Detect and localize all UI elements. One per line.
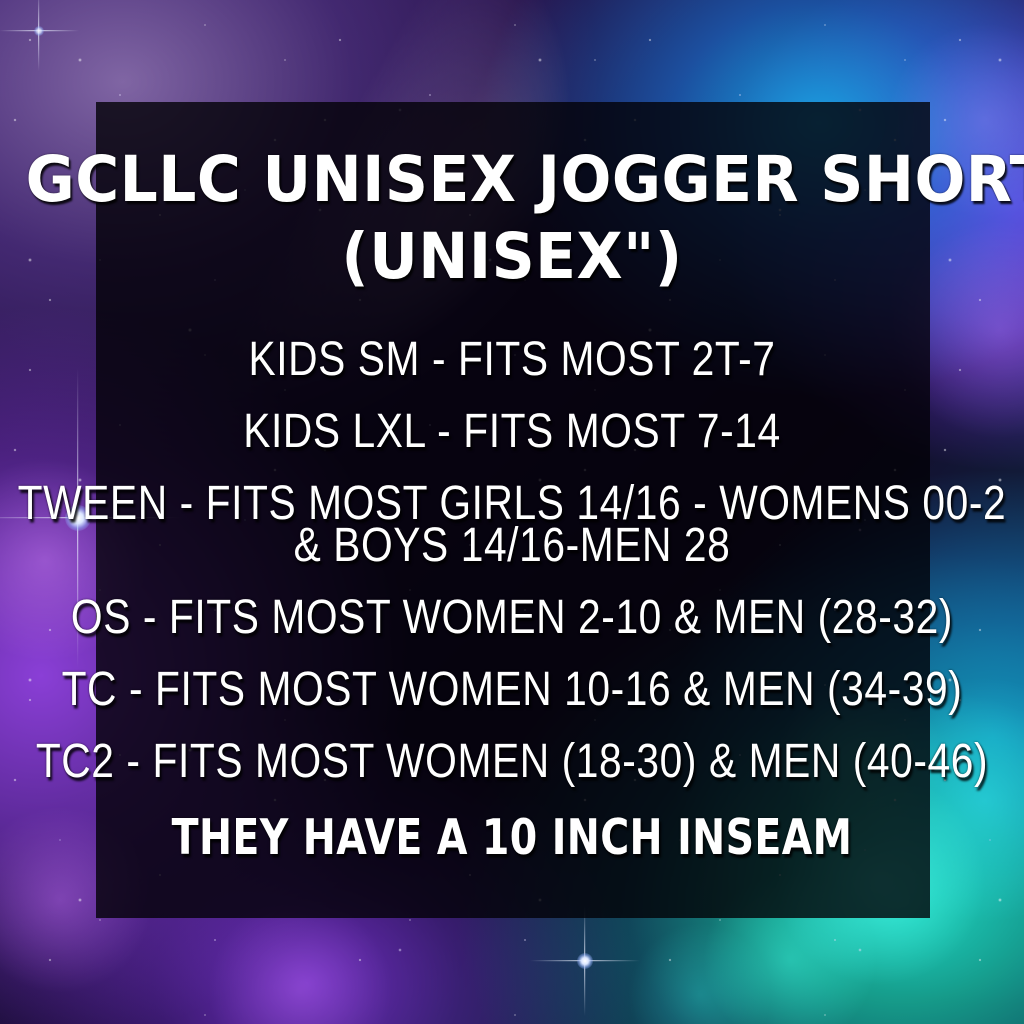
size-chart-poster: GCLLC UNISEX JOGGER SHORTS (UNISEX") KID… (0, 0, 1024, 1024)
size-line-tc2: TC2 - FITS MOST WOMEN (18-30) & MEN (40-… (15, 737, 1008, 785)
inseam-note: THEY HAVE A 10 INCH INSEAM (31, 809, 994, 866)
size-line-kids-sm: KIDS SM - FITS MOST 2T-7 (15, 335, 1008, 383)
size-line-kids-lxl: KIDS LXL - FITS MOST 7-14 (15, 407, 1008, 455)
size-line-tween-continued: & BOYS 14/16-MEN 28 (15, 521, 1008, 569)
size-line-tc: TC - FITS MOST WOMEN 10-16 & MEN (34-39) (15, 665, 1008, 713)
poster-title-line-2: (UNISEX") (26, 217, 999, 298)
poster-content: GCLLC UNISEX JOGGER SHORTS (UNISEX") KID… (0, 0, 1024, 1024)
size-line-os: OS - FITS MOST WOMEN 2-10 & MEN (28-32) (15, 593, 1008, 641)
poster-title-line-1: GCLLC UNISEX JOGGER SHORTS (26, 140, 999, 221)
